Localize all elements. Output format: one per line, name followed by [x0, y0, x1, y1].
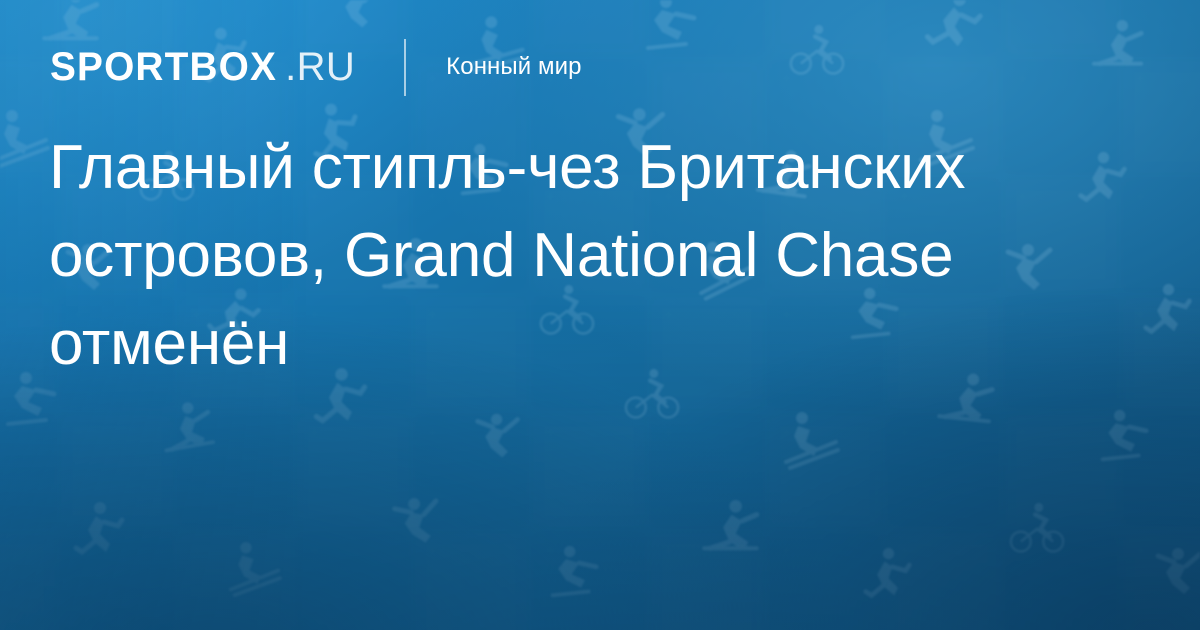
logo-brand-text: SPORTBOX — [50, 47, 277, 87]
card-header: SPORTBOX .RU Конный мир — [50, 38, 582, 96]
social-share-card: SPORTBOX .RU Конный мир Главный стипль-ч… — [0, 0, 1200, 630]
sportbox-logo[interactable]: SPORTBOX .RU — [50, 47, 355, 87]
page-title: Главный стипль-чез Британских островов, … — [49, 124, 1129, 388]
logo-tld-text: .RU — [285, 47, 355, 87]
title-block: Главный стипль-чез Британских островов, … — [49, 124, 1129, 388]
header-divider — [404, 39, 406, 96]
section-label[interactable]: Конный мир — [446, 53, 581, 81]
